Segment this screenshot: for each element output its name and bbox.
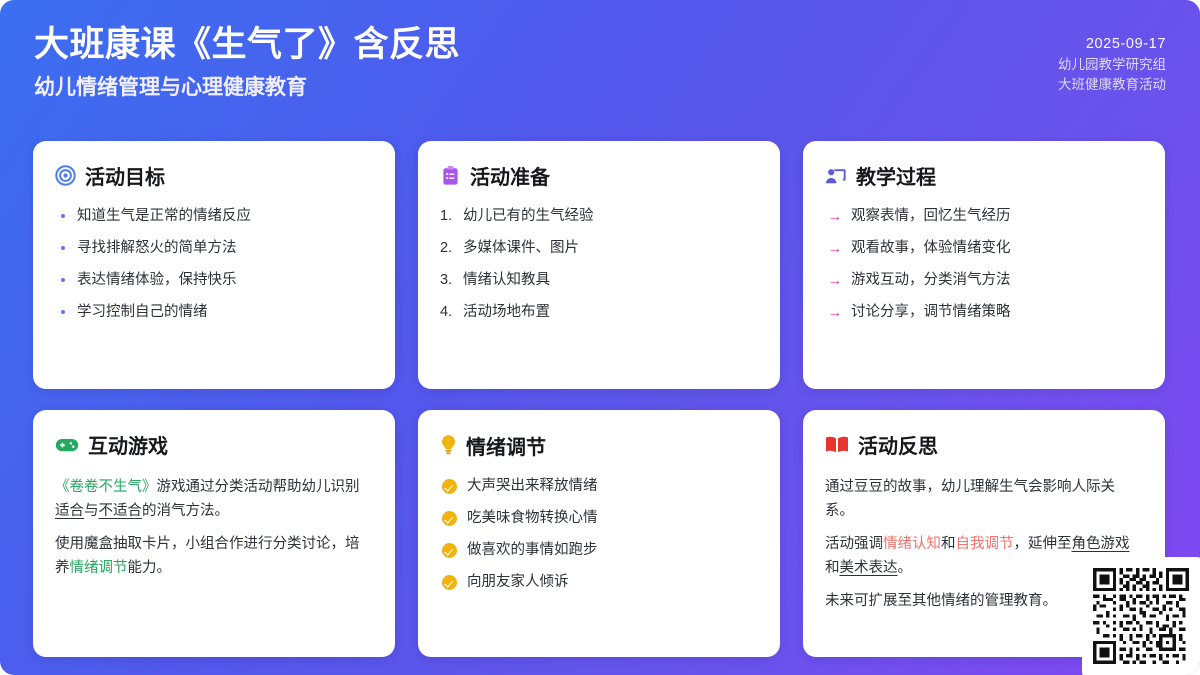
text-run: 与: [84, 503, 99, 519]
card-grid: 活动目标 知道生气是正常的情绪反应 寻找排解怒火的简单方法 表达情绪体验，保持快…: [33, 141, 1167, 657]
list-item: 知道生气是正常的情绪反应: [55, 206, 373, 226]
paragraph: 使用魔盒抽取卡片，小组合作进行分类讨论，培养情绪调节能力。: [55, 532, 373, 580]
list-item-text: 吃美味食物转换心情: [467, 508, 598, 528]
meta-date: 2025-09-17: [1086, 34, 1166, 55]
text-run: 通过豆豆的故事，幼儿理解生气会影响人际关系。: [825, 479, 1115, 519]
text-run: 活动强调: [825, 536, 883, 552]
bullet-dot-icon: [61, 246, 65, 250]
gamepad-icon: [55, 436, 79, 459]
list-item: 学习控制自己的情绪: [55, 302, 373, 322]
highlight-term: 情绪认知: [883, 536, 941, 552]
preparation-list: 1.幼儿已有的生气经验 2.多媒体课件、图片 3.情绪认知教具 4.活动场地布置: [440, 206, 758, 322]
meta-activity: 大班健康教育活动: [1058, 75, 1166, 95]
text-run: 能力。: [128, 560, 172, 576]
card-title: 活动目标: [85, 165, 165, 191]
check-circle-icon: [442, 575, 457, 590]
header-left: 大班康课《生气了》含反思 幼儿情绪管理与心理健康教育: [34, 22, 460, 104]
card-header: 互动游戏: [55, 434, 373, 460]
card-title: 教学过程: [856, 165, 936, 191]
card-header: 活动准备: [440, 165, 758, 191]
list-item: →观察表情，回忆生气经历: [825, 206, 1143, 226]
list-item: →讨论分享，调节情绪策略: [825, 302, 1143, 322]
list-item: 大声哭出来释放情绪: [440, 476, 758, 496]
card-objectives[interactable]: 活动目标 知道生气是正常的情绪反应 寻找排解怒火的简单方法 表达情绪体验，保持快…: [33, 141, 395, 389]
list-item-text: 观察表情，回忆生气经历: [851, 206, 1011, 226]
arrow-right-icon: →: [828, 206, 842, 226]
check-circle-icon: [442, 511, 457, 526]
emotion-regulation-list: 大声哭出来释放情绪 吃美味食物转换心情 做喜欢的事情如跑步 向朋友家人倾诉: [440, 476, 758, 592]
paragraph: 《卷卷不生气》游戏通过分类活动帮助幼儿识别适合与不适合的消气方法。: [55, 475, 373, 523]
clipboard-icon: [440, 165, 461, 191]
card-teaching-process[interactable]: 教学过程 →观察表情，回忆生气经历 →观看故事，体验情绪变化 →游戏互动，分类消…: [803, 141, 1165, 389]
underlined-term: 不适合: [99, 503, 143, 519]
list-item-text: 情绪认知教具: [463, 270, 550, 290]
qr-code[interactable]: [1093, 568, 1189, 664]
header-meta: 2025-09-17 幼儿园教学研究组 大班健康教育活动: [1058, 22, 1166, 95]
open-book-icon: [825, 435, 849, 459]
page-title: 大班康课《生气了》含反思: [34, 22, 460, 68]
card-header: 情绪调节: [440, 434, 758, 461]
card-emotion-regulation[interactable]: 情绪调节 大声哭出来释放情绪 吃美味食物转换心情 做喜欢的事情如跑步 向朋友家人…: [418, 410, 780, 657]
list-item-text: 向朋友家人倾诉: [467, 572, 569, 592]
list-item-text: 观看故事，体验情绪变化: [851, 238, 1011, 258]
text-run: 和: [825, 560, 840, 576]
card-title: 情绪调节: [466, 435, 546, 461]
card-interactive-game[interactable]: 互动游戏 《卷卷不生气》游戏通过分类活动帮助幼儿识别适合与不适合的消气方法。 使…: [33, 410, 395, 657]
list-item-text: 寻找排解怒火的简单方法: [77, 238, 237, 258]
underlined-term: 美术表达: [840, 560, 898, 576]
list-item-text: 做喜欢的事情如跑步: [467, 540, 598, 560]
list-item: 向朋友家人倾诉: [440, 572, 758, 592]
list-item-text: 游戏互动，分类消气方法: [851, 270, 1011, 290]
list-item-text: 知道生气是正常的情绪反应: [77, 206, 251, 226]
text-run: 游戏通过分类活动帮助幼儿识别: [157, 479, 360, 495]
list-marker: 2.: [440, 238, 457, 258]
arrow-right-icon: →: [828, 302, 842, 322]
list-item-text: 学习控制自己的情绪: [77, 302, 208, 322]
bullet-dot-icon: [61, 310, 65, 314]
meta-organization: 幼儿园教学研究组: [1058, 55, 1166, 75]
card-header: 活动目标: [55, 165, 373, 191]
list-item-text: 表达情绪体验，保持快乐: [77, 270, 237, 290]
list-item-text: 幼儿已有的生气经验: [463, 206, 594, 226]
text-run: 。: [898, 560, 913, 576]
bullet-dot-icon: [61, 278, 65, 282]
card-preparation[interactable]: 活动准备 1.幼儿已有的生气经验 2.多媒体课件、图片 3.情绪认知教具 4.活…: [418, 141, 780, 389]
list-marker: 3.: [440, 270, 457, 290]
slide-header: 大班康课《生气了》含反思 幼儿情绪管理与心理健康教育 2025-09-17 幼儿…: [0, 0, 1200, 128]
target-icon: [55, 165, 76, 191]
list-item-text: 多媒体课件、图片: [463, 238, 579, 258]
list-marker: 1.: [440, 206, 457, 226]
text-run: 和: [941, 536, 956, 552]
card-title: 活动反思: [858, 434, 938, 460]
underlined-term: 适合: [55, 503, 84, 519]
interactive-game-body: 《卷卷不生气》游戏通过分类活动帮助幼儿识别适合与不适合的消气方法。 使用魔盒抽取…: [55, 475, 373, 580]
text-run: 未来可扩展至其他情绪的管理教育。: [825, 593, 1057, 609]
list-item: 吃美味食物转换心情: [440, 508, 758, 528]
card-title: 活动准备: [470, 165, 550, 191]
page-subtitle: 幼儿情绪管理与心理健康教育: [34, 72, 460, 104]
list-item: 2.多媒体课件、图片: [440, 238, 758, 258]
highlight-term: 自我调节: [956, 536, 1014, 552]
list-item-text: 讨论分享，调节情绪策略: [851, 302, 1011, 322]
list-item: 做喜欢的事情如跑步: [440, 540, 758, 560]
list-item: 表达情绪体验，保持快乐: [55, 270, 373, 290]
lightbulb-icon: [440, 434, 457, 461]
list-item: →观看故事，体验情绪变化: [825, 238, 1143, 258]
presenter-icon: [825, 165, 847, 191]
card-header: 活动反思: [825, 434, 1143, 460]
arrow-right-icon: →: [828, 238, 842, 258]
list-item: 1.幼儿已有的生气经验: [440, 206, 758, 226]
list-item: →游戏互动，分类消气方法: [825, 270, 1143, 290]
highlight-term: 情绪调节: [70, 560, 128, 576]
objectives-list: 知道生气是正常的情绪反应 寻找排解怒火的简单方法 表达情绪体验，保持快乐 学习控…: [55, 206, 373, 322]
list-marker: 4.: [440, 302, 457, 322]
list-item: 3.情绪认知教具: [440, 270, 758, 290]
list-item-text: 大声哭出来释放情绪: [467, 476, 598, 496]
slide-canvas: 大班康课《生气了》含反思 幼儿情绪管理与心理健康教育 2025-09-17 幼儿…: [0, 0, 1200, 675]
teaching-process-list: →观察表情，回忆生气经历 →观看故事，体验情绪变化 →游戏互动，分类消气方法 →…: [825, 206, 1143, 322]
text-run: 的消气方法。: [142, 503, 229, 519]
arrow-right-icon: →: [828, 270, 842, 290]
list-item: 寻找排解怒火的简单方法: [55, 238, 373, 258]
underlined-term: 角色游戏: [1072, 536, 1130, 552]
game-name-highlight: 《卷卷不生气》: [55, 479, 157, 495]
card-header: 教学过程: [825, 165, 1143, 191]
paragraph: 通过豆豆的故事，幼儿理解生气会影响人际关系。: [825, 475, 1143, 523]
list-item: 4.活动场地布置: [440, 302, 758, 322]
check-circle-icon: [442, 543, 457, 558]
bullet-dot-icon: [61, 214, 65, 218]
card-title: 互动游戏: [88, 434, 168, 460]
qr-code-container[interactable]: [1082, 557, 1200, 675]
check-circle-icon: [442, 479, 457, 494]
text-run: ，延伸至: [1014, 536, 1072, 552]
list-item-text: 活动场地布置: [463, 302, 550, 322]
